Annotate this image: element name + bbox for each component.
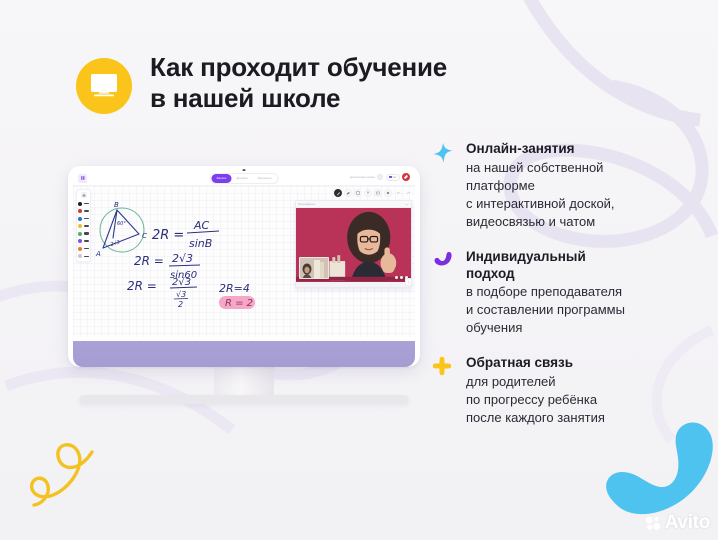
list-item: Индивидуальный подход в подборе преподав… bbox=[432, 249, 710, 338]
palette-row[interactable] bbox=[78, 238, 89, 244]
undo-tool-icon[interactable] bbox=[394, 189, 402, 197]
stroke-thin[interactable] bbox=[84, 203, 89, 204]
avito-logo-icon bbox=[645, 515, 661, 531]
chat-button[interactable]: Чат bbox=[386, 174, 400, 181]
plus-icon bbox=[432, 355, 456, 427]
yellow-squiggle-icon bbox=[32, 445, 92, 505]
eraser-tool-icon[interactable] bbox=[344, 189, 352, 197]
palette-row[interactable] bbox=[78, 231, 89, 237]
stroke-medium-2[interactable] bbox=[84, 248, 89, 250]
lock-icon[interactable] bbox=[81, 192, 87, 198]
panel-collapse-handle[interactable] bbox=[405, 278, 412, 286]
app-toolbar-right: Демонстрация экрана Чат bbox=[350, 173, 410, 181]
feature-title: Обратная связь bbox=[466, 355, 710, 372]
svg-text:2√3: 2√3 bbox=[172, 252, 193, 265]
swatch-purple[interactable] bbox=[78, 239, 82, 243]
palette-row[interactable] bbox=[78, 216, 89, 222]
stroke-extra[interactable] bbox=[84, 232, 89, 235]
gear-icon[interactable] bbox=[377, 174, 383, 180]
whiteboard-area[interactable]: B A C 60° 2√3 2R = AC sinB bbox=[73, 186, 415, 337]
list-item: Обратная связь для родителей по прогресс… bbox=[432, 355, 710, 427]
palette-row[interactable] bbox=[78, 201, 89, 207]
feature-list: Онлайн-занятия на нашей собственной плат… bbox=[432, 141, 710, 427]
palette-row[interactable] bbox=[78, 246, 89, 252]
stroke-bold[interactable] bbox=[84, 225, 89, 227]
app-logo-icon[interactable] bbox=[78, 174, 87, 183]
star-icon bbox=[432, 141, 456, 231]
monitor-screen: Занятие Домашка Материалы Демонстрация э… bbox=[73, 171, 415, 337]
palette-row[interactable] bbox=[78, 223, 89, 229]
curved-hook-icon bbox=[432, 249, 456, 338]
palette-row[interactable] bbox=[78, 253, 89, 259]
color-palette-rail[interactable] bbox=[76, 189, 91, 262]
video-panel-header: Преподаватель bbox=[296, 201, 411, 208]
svg-text:2R=4: 2R=4 bbox=[219, 282, 250, 295]
monitor-stand bbox=[214, 367, 274, 395]
avito-wordmark: Avito bbox=[665, 513, 710, 532]
redo-tool-icon[interactable] bbox=[404, 189, 412, 197]
blue-blob-icon bbox=[606, 422, 713, 514]
feature-body: на нашей собственной платформе с интерак… bbox=[466, 159, 710, 231]
svg-text:AC: AC bbox=[193, 219, 210, 232]
swatch-green[interactable] bbox=[78, 232, 82, 236]
svg-text:2R =: 2R = bbox=[127, 279, 157, 293]
feature-body: в подборе преподавателя и составлении пр… bbox=[466, 283, 710, 337]
shapes-tool-icon[interactable] bbox=[354, 189, 362, 197]
self-view-thumbnail[interactable] bbox=[299, 257, 329, 279]
stroke-thin-2[interactable] bbox=[84, 256, 89, 257]
svg-text:2√3: 2√3 bbox=[172, 277, 191, 288]
tab-materials[interactable]: Материалы bbox=[253, 174, 277, 183]
swatch-orange[interactable] bbox=[78, 247, 82, 251]
svg-text:sinB: sinB bbox=[189, 237, 212, 250]
avito-watermark: Avito bbox=[645, 513, 710, 532]
svg-text:C: C bbox=[142, 232, 147, 240]
monitor-chin bbox=[73, 341, 415, 367]
slide-canvas: Как проходит обучение в нашей школе bbox=[0, 0, 718, 540]
video-call-panel[interactable]: Преподаватель bbox=[295, 200, 412, 288]
svg-text:A: A bbox=[95, 250, 101, 258]
svg-text:√3: √3 bbox=[176, 290, 186, 299]
monitor-icon bbox=[76, 58, 132, 114]
swatch-red[interactable] bbox=[78, 209, 82, 213]
monitor-base bbox=[79, 395, 409, 404]
swatch-blue[interactable] bbox=[78, 217, 82, 221]
video-panel-title: Преподаватель bbox=[298, 203, 315, 206]
whiteboard-tools[interactable] bbox=[334, 189, 412, 197]
list-item: Онлайн-занятия на нашей собственной плат… bbox=[432, 141, 710, 231]
image-tool-icon[interactable] bbox=[374, 189, 382, 197]
swatch-yellow[interactable] bbox=[78, 224, 82, 228]
video-panel-footer bbox=[296, 282, 411, 287]
swatch-gray[interactable] bbox=[78, 254, 82, 258]
tab-homework[interactable]: Домашка bbox=[231, 174, 252, 183]
end-call-icon[interactable] bbox=[402, 173, 410, 181]
svg-text:2: 2 bbox=[178, 300, 183, 309]
feature-body: для родителей по прогрессу ребёнка после… bbox=[466, 373, 710, 427]
video-stream[interactable] bbox=[296, 208, 411, 282]
chat-icon bbox=[389, 176, 392, 178]
pen-tool-icon[interactable] bbox=[334, 189, 342, 197]
stroke-regular-2[interactable] bbox=[84, 240, 89, 241]
feature-title: Индивидуальный подход bbox=[466, 249, 710, 283]
stroke-medium[interactable] bbox=[84, 218, 89, 220]
svg-text:R = 2: R = 2 bbox=[225, 298, 253, 309]
swatch-black[interactable] bbox=[78, 202, 82, 206]
monitor-mockup: Занятие Домашка Материалы Демонстрация э… bbox=[68, 166, 420, 404]
chat-button-label: Чат bbox=[393, 176, 397, 179]
tab-lesson[interactable]: Занятие bbox=[212, 174, 232, 183]
svg-text:2R =: 2R = bbox=[152, 228, 184, 243]
app-toolbar: Занятие Домашка Материалы Демонстрация э… bbox=[73, 171, 415, 186]
feature-title: Онлайн-занятия bbox=[466, 141, 710, 158]
svg-text:60°: 60° bbox=[117, 221, 126, 227]
stroke-regular[interactable] bbox=[84, 210, 89, 211]
palette-row[interactable] bbox=[78, 208, 89, 214]
add-page-tool-icon[interactable] bbox=[384, 189, 392, 197]
text-tool-icon[interactable] bbox=[364, 189, 372, 197]
session-label: Демонстрация экрана bbox=[350, 176, 374, 179]
svg-text:2√3: 2√3 bbox=[110, 240, 121, 248]
app-tabs[interactable]: Занятие Домашка Материалы bbox=[210, 173, 279, 184]
page-header: Как проходит обучение в нашей школе bbox=[76, 52, 447, 114]
page-title: Как проходит обучение в нашей школе bbox=[150, 52, 447, 113]
svg-text:B: B bbox=[114, 201, 119, 209]
chevron-down-icon bbox=[405, 203, 409, 206]
svg-text:2R =: 2R = bbox=[134, 254, 164, 268]
